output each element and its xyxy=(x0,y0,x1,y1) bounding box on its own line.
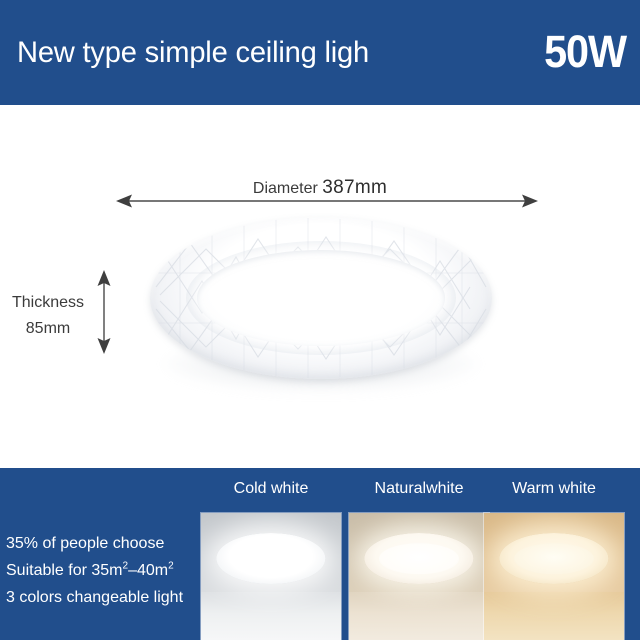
thickness-label-text: Thickness xyxy=(2,290,94,316)
benefit-line-1: 35% of people choose xyxy=(6,530,196,557)
page-title: New type simple ceiling ligh xyxy=(17,36,369,70)
benefit-line-3: 3 colors changeable light xyxy=(6,584,196,611)
thickness-arrow-icon xyxy=(96,270,112,354)
benefits-text-block: 35% of people choose Suitable for 35m2–4… xyxy=(6,530,196,611)
swatch-photo-cold-white[interactable] xyxy=(200,512,342,640)
wattage-badge: 50W xyxy=(544,28,626,76)
room-scene-natural xyxy=(349,513,489,640)
wall-surface xyxy=(484,592,624,640)
benefit-line-2-sup-b: 2 xyxy=(168,561,174,572)
swatch-label-cold-white: Cold white xyxy=(200,480,342,498)
wall-surface xyxy=(349,592,489,640)
benefit-line-2-mid: –40m xyxy=(128,562,168,579)
diameter-arrow-icon xyxy=(116,193,538,209)
wall-surface xyxy=(201,592,341,640)
benefit-line-2: Suitable for 35m2–40m2 xyxy=(6,557,196,584)
room-scene-cold xyxy=(201,513,341,640)
swatch-label-warm-white: Warm white xyxy=(483,480,625,498)
thickness-label: Thickness 85mm xyxy=(2,290,94,342)
lamp-diffuser-panel xyxy=(197,250,445,346)
header-banner: New type simple ceiling ligh 50W xyxy=(0,0,640,105)
mounted-lamp-core xyxy=(231,543,312,574)
mounted-lamp-core xyxy=(514,543,595,574)
swatch-label-natural-white: Naturalwhite xyxy=(348,480,490,498)
mounted-lamp-core xyxy=(379,543,460,574)
thickness-value: 85mm xyxy=(2,316,94,342)
product-stage: Diameter 387mm Thickness 85mm xyxy=(0,105,640,468)
swatch-photo-natural-white[interactable] xyxy=(348,512,490,640)
mounted-lamp xyxy=(499,533,608,584)
swatch-photo-warm-white[interactable] xyxy=(483,512,625,640)
mounted-lamp xyxy=(216,533,325,584)
benefit-line-2-prefix: Suitable for 35m xyxy=(6,562,123,579)
room-scene-warm xyxy=(484,513,624,640)
product-image xyxy=(150,217,492,395)
mounted-lamp xyxy=(364,533,473,584)
color-temperature-panel: 35% of people choose Suitable for 35m2–4… xyxy=(0,468,640,640)
swatch-gallery: Cold white Naturalwhite Warm white xyxy=(200,468,625,640)
